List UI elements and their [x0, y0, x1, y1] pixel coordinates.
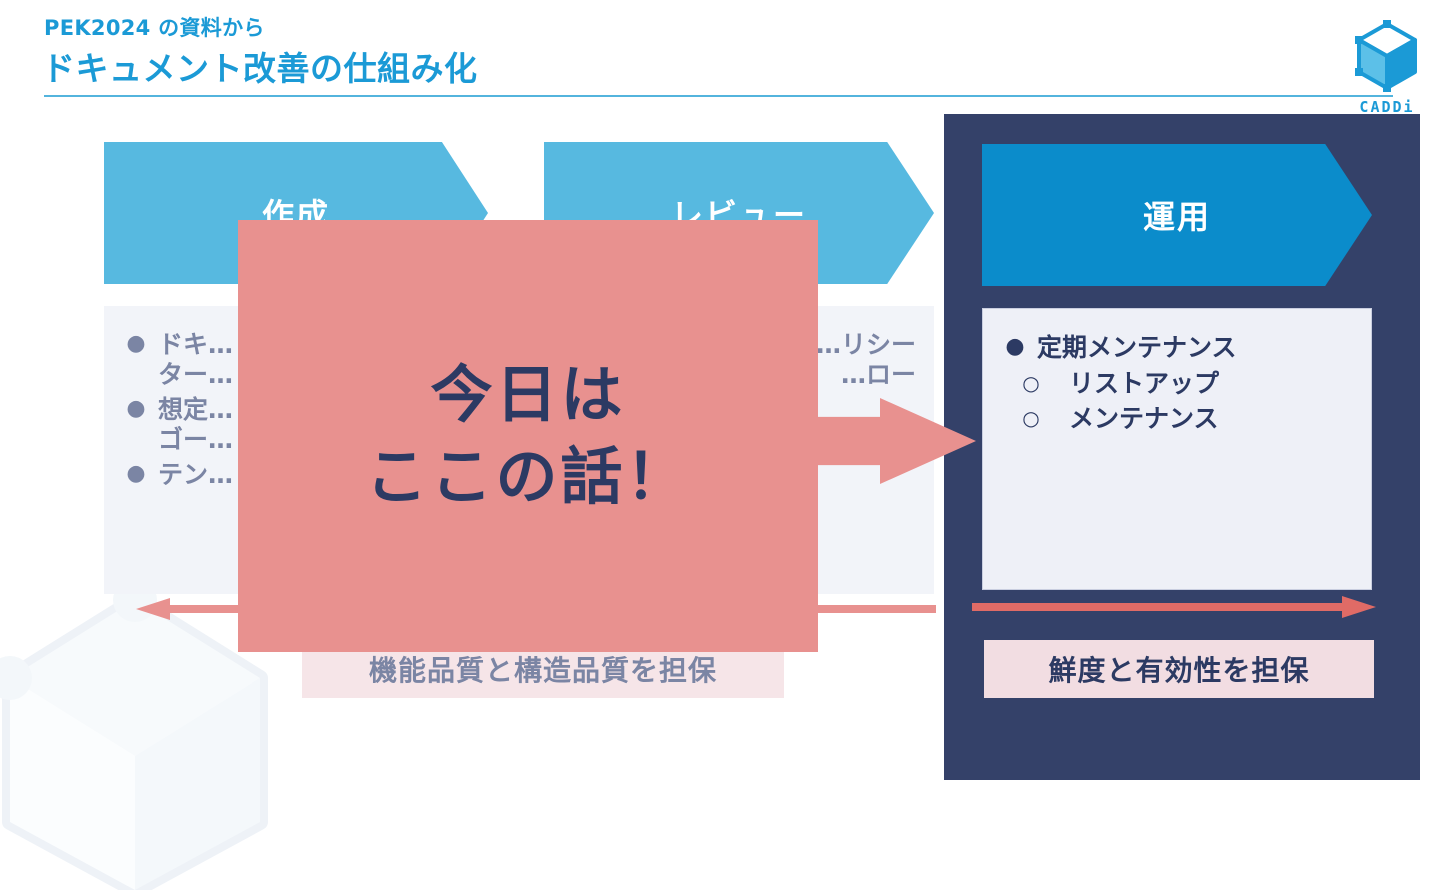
- bullet-marker: ●: [114, 328, 158, 360]
- bullet-marker: ●: [114, 458, 158, 490]
- bullet-label: 定期メンテナンス: [1037, 331, 1361, 365]
- stage-content-operate: ● 定期メンテナンス ○ リストアップ ○ メンテナンス: [982, 308, 1372, 590]
- caddi-cube-logo-icon: CADDi: [1347, 16, 1427, 100]
- bullet-label: メンテナンス: [1069, 402, 1361, 436]
- eyebrow-text: PEK2024 の資料から: [44, 12, 265, 42]
- bullet-marker: ●: [993, 331, 1037, 363]
- callout-text: 今日は ここの話！: [365, 354, 690, 518]
- list-item: ○ リストアップ: [993, 367, 1361, 401]
- bullet-marker: ○: [993, 402, 1069, 434]
- page-title: ドキュメント改善の仕組み化: [42, 42, 478, 90]
- foot-label-right-text: 鮮度と有効性を担保: [1048, 649, 1309, 689]
- foot-label-right: 鮮度と有効性を担保: [984, 640, 1374, 698]
- bullet-label: …ロー: [841, 358, 916, 392]
- stage-label-operate: 運用: [1143, 192, 1211, 238]
- list-item: ● 定期メンテナンス: [993, 331, 1361, 365]
- operate-arrow-right-icon: [972, 596, 1376, 618]
- bullet-label: リストアップ: [1069, 367, 1361, 401]
- list-item: ○ メンテナンス: [993, 402, 1361, 436]
- bullet-marker: ○: [993, 367, 1069, 399]
- bullet-label: …リシー: [816, 328, 916, 362]
- header-divider: [44, 95, 1393, 97]
- foot-label-left-text: 機能品質と構造品質を担保: [369, 649, 717, 689]
- stage-chevron-operate: 運用: [982, 144, 1372, 286]
- today-focus-callout: 今日は ここの話！: [238, 220, 818, 652]
- bullet-list-operate: ● 定期メンテナンス ○ リストアップ ○ メンテナンス: [993, 331, 1361, 436]
- bullet-marker: ●: [114, 393, 158, 425]
- slide-header: PEK2024 の資料から ドキュメント改善の仕組み化: [0, 0, 1440, 108]
